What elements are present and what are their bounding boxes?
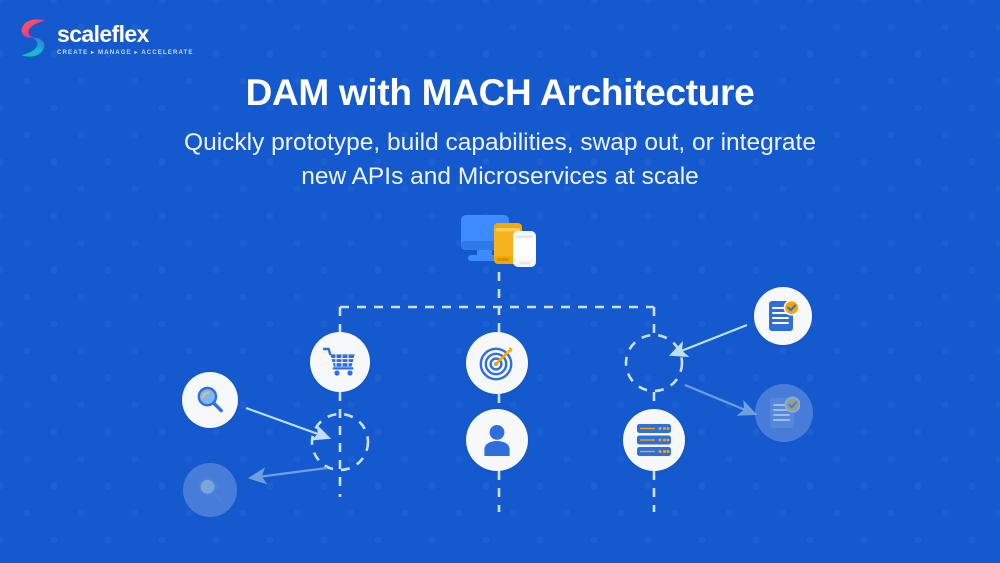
database-stack-icon bbox=[636, 423, 672, 457]
user-avatar-node[interactable] bbox=[466, 409, 528, 471]
search-node-active[interactable] bbox=[182, 372, 238, 428]
multi-device-icon[interactable] bbox=[459, 211, 539, 269]
slide-canvas: scaleflex CREATE ▸ MANAGE ▸ ACCELERATE D… bbox=[0, 0, 1000, 563]
swap-out-arrow-right bbox=[685, 385, 755, 414]
target-bullseye-icon bbox=[479, 345, 515, 381]
user-avatar-icon bbox=[481, 423, 513, 457]
swap-in-arrow-right bbox=[671, 325, 747, 355]
architecture-diagram bbox=[0, 0, 1000, 563]
document-check-node-active[interactable] bbox=[754, 287, 812, 345]
document-check-icon bbox=[767, 299, 799, 333]
database-stack-node[interactable] bbox=[623, 409, 685, 471]
search-icon bbox=[195, 385, 225, 415]
document-check-node-deprecated[interactable] bbox=[755, 384, 813, 442]
document-check-icon bbox=[768, 396, 800, 430]
target-bullseye-node[interactable] bbox=[466, 332, 528, 394]
shopping-cart-node[interactable] bbox=[310, 332, 370, 392]
search-icon bbox=[196, 476, 224, 504]
placeholder-slot-right[interactable] bbox=[626, 335, 682, 391]
shopping-cart-icon bbox=[323, 347, 357, 377]
swap-in-arrow-left bbox=[246, 408, 329, 438]
swap-out-arrow-left bbox=[250, 468, 327, 478]
search-node-deprecated[interactable] bbox=[183, 463, 237, 517]
